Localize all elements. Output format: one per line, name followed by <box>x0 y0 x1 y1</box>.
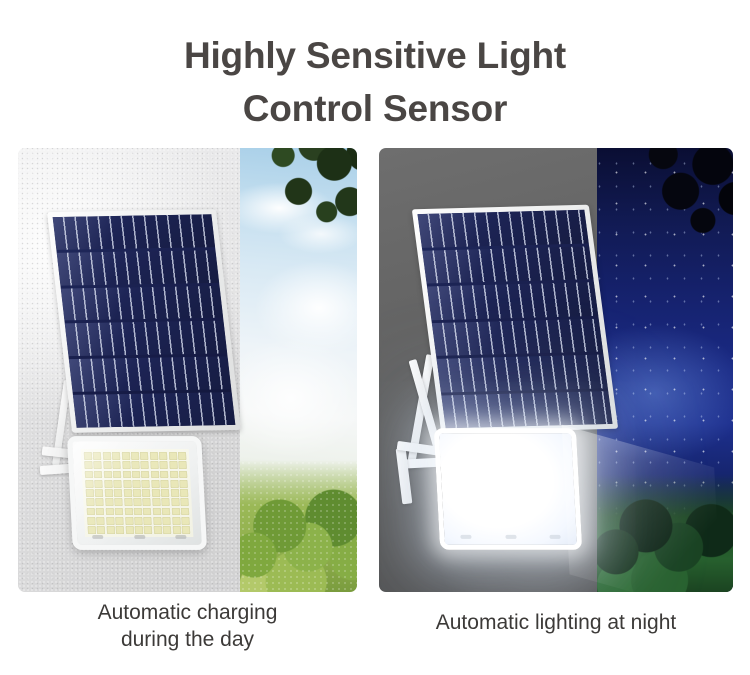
solar-cell-row <box>65 321 227 356</box>
night-panel-image <box>379 148 733 592</box>
solar-cell-row <box>53 214 215 249</box>
day-panel-image <box>18 148 357 592</box>
solar-cell-row <box>422 246 593 284</box>
solar-cell-row <box>73 392 235 427</box>
solar-panel-cells <box>53 214 236 427</box>
green-foliage <box>597 474 733 592</box>
solar-cell-row <box>57 250 219 285</box>
day-caption-line-2: during the day <box>18 627 357 654</box>
solar-cell-row <box>441 391 612 429</box>
night-panel-caption: Automatic lighting at night <box>379 610 733 637</box>
lamp-housing <box>434 428 583 550</box>
page-title-line-2: Control Sensor <box>0 83 750 136</box>
solar-panel-frame <box>412 205 618 434</box>
day-panel-caption: Automatic charging during the day <box>18 600 357 654</box>
tree-canopy-icon <box>631 148 733 240</box>
lamp-housing <box>67 436 207 550</box>
solar-cell-row <box>427 282 598 320</box>
solar-panel-day <box>47 209 241 433</box>
solar-panel-cells <box>417 210 612 429</box>
day-outdoor-scene <box>240 148 357 592</box>
page-title-line-1: Highly Sensitive Light <box>0 30 750 83</box>
day-caption-line-1: Automatic charging <box>18 600 357 627</box>
solar-cell-row <box>432 318 603 356</box>
comparison-panels <box>18 148 733 592</box>
solar-cell-row <box>437 354 608 392</box>
green-foliage <box>240 460 357 592</box>
solar-cell-row <box>61 285 223 320</box>
lamp-screws <box>460 535 561 540</box>
solar-panel-night <box>412 205 618 434</box>
flood-lamp-on <box>434 428 583 550</box>
solar-cell-row <box>417 210 588 248</box>
night-caption-line-1: Automatic lighting at night <box>379 610 733 637</box>
solar-cell-row <box>69 357 231 392</box>
night-outdoor-scene <box>597 148 733 592</box>
flood-lamp-off <box>67 436 207 550</box>
led-chip-array <box>81 449 194 537</box>
cloud-shape <box>240 338 357 458</box>
page-title: Highly Sensitive Light Control Sensor <box>0 30 750 135</box>
tree-canopy-icon <box>255 148 357 240</box>
solar-panel-frame <box>47 209 241 433</box>
